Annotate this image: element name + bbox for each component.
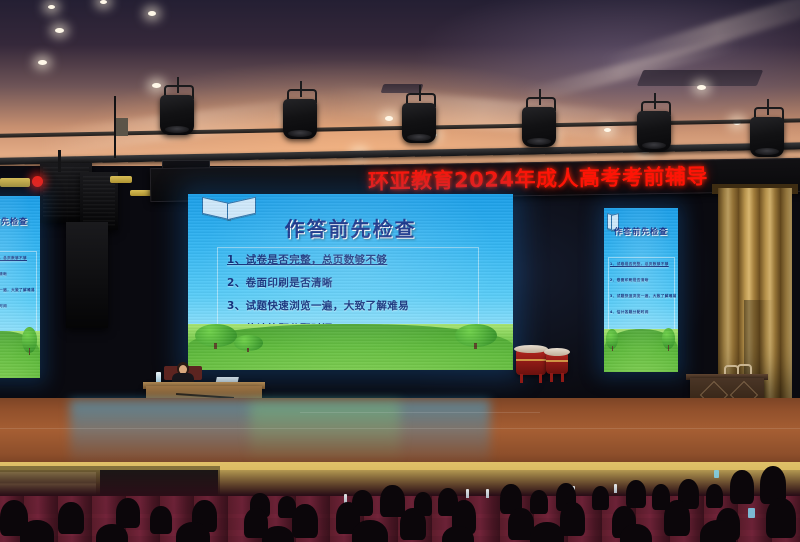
speaker-rigging <box>58 150 61 172</box>
light-housing <box>283 99 317 139</box>
slide-bullet-item: 1、试卷是否完整，总页数够不够 <box>0 256 37 261</box>
audience-head <box>150 506 172 534</box>
slide-bullet-item: 4、估计答题分配时间 <box>610 310 675 315</box>
audience-head <box>664 500 690 536</box>
light-lens <box>755 148 779 155</box>
audience-head <box>176 522 210 542</box>
audience-head <box>560 502 585 536</box>
drum-band <box>546 360 568 362</box>
audience-head <box>700 520 736 542</box>
stage-floor-reflection <box>250 402 400 462</box>
audience-head <box>530 490 548 514</box>
audience-head <box>530 522 564 542</box>
slide-title: 作答前先检查 <box>604 226 678 237</box>
light-lens <box>288 130 312 137</box>
red-indicator-light <box>32 176 43 187</box>
ceiling-light-sweep <box>329 85 670 145</box>
audience-head <box>292 504 318 538</box>
slide-tree-icon <box>662 328 675 349</box>
slide-bullet-item: 1、试卷是否完整，总页数够不够 <box>610 262 675 267</box>
audience-head <box>380 485 405 517</box>
ceiling-downlight <box>100 0 107 4</box>
ceiling-downlight <box>385 116 393 121</box>
slide-bullet-item: 4、估计答题分配时间 <box>0 304 37 309</box>
right-led-screen: 作答前先检查 1、试卷是否完整，总页数够不够 2、卷面印刷是否清晰 3、试题快速… <box>604 208 678 372</box>
slide-tree-icon <box>22 327 37 352</box>
audience-head <box>592 486 609 510</box>
ceiling-downlight <box>55 28 64 33</box>
yellow-sign <box>110 176 132 183</box>
chinese-drum <box>546 352 568 374</box>
slide-tree-icon <box>606 329 618 349</box>
chinese-drum <box>516 349 546 375</box>
slide-bullet-list: 1、试卷是否完整，总页数够不够 2、卷面印刷是否清晰 3、试题快速浏览一遍，大致… <box>0 256 37 320</box>
slide-tree-icon <box>455 324 497 347</box>
stage-par-light <box>522 105 556 151</box>
audience-head <box>116 498 140 528</box>
stage-par-light <box>750 115 784 161</box>
slide-bullet-list: 1、试卷是否完整，总页数够不够 2、卷面印刷是否清晰 3、试题快速浏览一遍，大致… <box>610 262 675 326</box>
stage-par-light <box>283 97 317 143</box>
ceiling-downlight <box>697 85 706 90</box>
slide-bullet-item: 3、试题快速浏览一遍，大致了解难易 <box>0 288 37 293</box>
speaker-stack-column <box>66 222 108 328</box>
water-bottle <box>466 489 469 498</box>
slide-bullet-item-2: 2、卷面印刷是否清晰 <box>227 275 487 290</box>
light-housing <box>402 103 436 143</box>
light-housing <box>750 117 784 157</box>
light-lens <box>165 126 189 133</box>
drum-legs <box>548 373 566 382</box>
audience-head <box>626 480 646 508</box>
audience-head <box>58 502 84 534</box>
drum-band <box>516 359 546 361</box>
audience-head <box>400 508 426 540</box>
photo-scene: 环亚教育2024年成人高考考前辅导 作答前先检查 1、试卷是否完整，总页数够不够… <box>0 0 800 542</box>
audience-head <box>96 524 128 542</box>
ceiling-downlight <box>38 60 47 65</box>
drum-head <box>544 348 570 356</box>
slide-bullet-item: 3、试题快速浏览一遍，大致了解难易 <box>610 294 675 299</box>
slide-title: 作答前先检查 <box>188 213 513 242</box>
floor-seam <box>0 428 800 429</box>
slide-surface: 作答前先检查 1、试卷是否完整，总页数够不够 2、卷面印刷是否清晰 3、试题快速… <box>604 208 678 372</box>
light-lens <box>407 134 431 141</box>
water-bottle <box>486 489 489 498</box>
ceiling-vent <box>637 70 763 86</box>
light-housing <box>522 107 556 147</box>
drum-head <box>514 345 548 353</box>
slide-bullet-item-1: 1、试卷是否完整，总页数够不够 <box>227 252 487 267</box>
slide-bullet-item: 2、卷面印刷是否清晰 <box>610 278 675 283</box>
slide-bullet-item: 2、卷面印刷是否清晰 <box>0 272 37 277</box>
slide-surface: 作答前先检查 1、试卷是否完整，总页数够不够 2、卷面印刷是否清晰 3、试题快速… <box>0 196 40 378</box>
stage-par-light <box>160 93 194 139</box>
speaker-grille <box>83 176 115 226</box>
light-housing <box>637 111 671 151</box>
audience-head <box>706 484 723 508</box>
junction-box <box>116 118 128 136</box>
slide-title: 作答前先检查 <box>0 216 40 227</box>
stage-par-light <box>402 101 436 147</box>
light-housing <box>160 95 194 135</box>
light-lens <box>527 138 551 145</box>
ceiling-vent <box>381 84 424 93</box>
ceiling-downlight <box>148 11 156 16</box>
ceiling-downlight <box>152 83 161 88</box>
audience-head <box>20 520 54 542</box>
raised-phone <box>748 508 755 518</box>
light-lens <box>642 142 666 149</box>
stage-par-light <box>637 109 671 155</box>
slide-tree-icon <box>195 324 237 347</box>
drum-legs <box>518 374 544 383</box>
slide-tree-icon <box>234 335 263 351</box>
slide-bullet-item-3: 3、试题快速浏览一遍，大致了解难易 <box>227 298 487 313</box>
yellow-sign <box>130 190 152 196</box>
ceiling-downlight <box>604 128 611 132</box>
yellow-sign <box>0 178 30 187</box>
audience-head <box>766 498 796 538</box>
main-led-screen: 作答前先检查 1、试卷是否完整，总页数够不够 2、卷面印刷是否清晰 3、试题快速… <box>188 194 513 370</box>
raised-phone <box>714 470 719 478</box>
left-led-screen: 作答前先检查 1、试卷是否完整，总页数够不够 2、卷面印刷是否清晰 3、试题快速… <box>0 196 40 378</box>
audience-head <box>352 520 388 542</box>
water-bottle <box>614 484 617 493</box>
audience-head <box>730 470 754 504</box>
ceiling-downlight <box>48 5 55 9</box>
floor-seam <box>300 412 540 413</box>
slide-surface: 作答前先检查 1、试卷是否完整，总页数够不够 2、卷面印刷是否清晰 3、试题快速… <box>188 194 513 370</box>
